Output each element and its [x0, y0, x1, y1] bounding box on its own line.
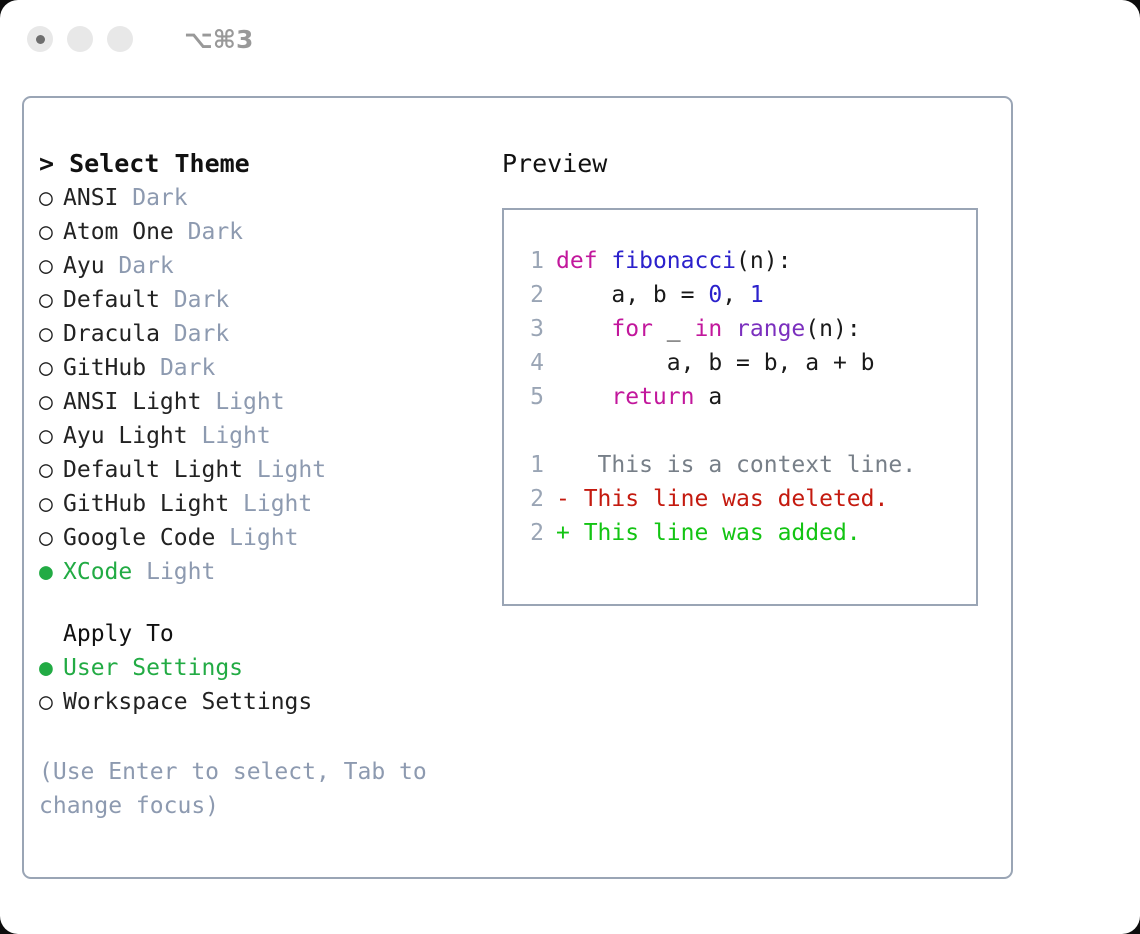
code-line: 3 for _ in range(n): [520, 312, 976, 346]
keyboard-shortcut-label: ⌥⌘3 [184, 25, 253, 54]
code-token: (n): [805, 316, 860, 342]
theme-kind-badge: Light [201, 389, 284, 415]
keyboard-hint-text: (Use Enter to select, Tab to change focu… [39, 755, 439, 823]
code-line-number: 2 [520, 278, 544, 312]
window-dot-third[interactable] [107, 26, 133, 52]
code-line-number: 4 [520, 346, 544, 380]
preview-column: Preview 1def fibonacci(n):2 a, b = 0, 13… [502, 147, 992, 606]
radio-unselected-icon[interactable]: ○ [39, 249, 63, 283]
theme-list-item[interactable]: ○GitHub Light Light [39, 487, 489, 521]
radio-unselected-icon[interactable]: ○ [39, 317, 63, 351]
theme-kind-badge: Light [188, 423, 271, 449]
apply-to-option[interactable]: ●User Settings [39, 651, 489, 685]
radio-unselected-icon[interactable]: ○ [39, 487, 63, 521]
code-token: def [556, 248, 598, 274]
preview-header: Preview [502, 147, 992, 181]
code-sample: 1def fibonacci(n):2 a, b = 0, 13 for _ i… [520, 244, 976, 414]
theme-list-item[interactable]: ○ANSI Light Light [39, 385, 489, 419]
select-theme-header: > Select Theme [39, 147, 489, 181]
apply-to-label: Apply To [39, 617, 489, 651]
code-line: 2 a, b = 0, 1 [520, 278, 976, 312]
theme-name-label: Atom One [63, 219, 174, 245]
theme-name-label: XCode [63, 559, 132, 585]
code-line-number: 3 [520, 312, 544, 346]
diff-sign: + [556, 520, 570, 546]
radio-unselected-icon[interactable]: ○ [39, 685, 63, 719]
code-token: (n): [736, 248, 791, 274]
diff-sign [556, 452, 570, 478]
theme-name-label: Google Code [63, 525, 215, 551]
code-token: _ [653, 316, 695, 342]
diff-sign: - [556, 486, 570, 512]
apply-to-option-label: User Settings [63, 655, 243, 681]
theme-name-label: ANSI Light [63, 389, 201, 415]
theme-list-item[interactable]: ○Atom One Dark [39, 215, 489, 249]
theme-name-label: Default [63, 287, 160, 313]
apply-to-option-label: Workspace Settings [63, 689, 312, 715]
diff-line-number: 1 [520, 448, 544, 482]
radio-unselected-icon[interactable]: ○ [39, 453, 63, 487]
code-token: a, b = [556, 282, 708, 308]
code-token: fibonacci [611, 248, 736, 274]
theme-kind-badge: Dark [174, 219, 243, 245]
code-line: 1def fibonacci(n): [520, 244, 976, 278]
theme-name-label: GitHub [63, 355, 146, 381]
window-dot-second[interactable] [67, 26, 93, 52]
apply-to-options[interactable]: ●User Settings○Workspace Settings [39, 651, 489, 719]
theme-list-item[interactable]: ●XCode Light [39, 555, 489, 589]
radio-unselected-icon[interactable]: ○ [39, 215, 63, 249]
theme-name-label: Dracula [63, 321, 160, 347]
main-panel: > Select Theme ○ANSI Dark○Atom One Dark○… [22, 96, 1013, 879]
code-token [598, 248, 612, 274]
apply-to-section: Apply To ●User Settings○Workspace Settin… [39, 617, 489, 719]
diff-line-number: 2 [520, 516, 544, 550]
diff-line: 2+ This line was added. [520, 516, 976, 550]
theme-kind-badge: Light [132, 559, 215, 585]
radio-unselected-icon[interactable]: ○ [39, 181, 63, 215]
diff-line-text: This is a context line. [570, 452, 916, 478]
code-token [722, 316, 736, 342]
app-window: ⌥⌘3 > Select Theme ○ANSI Dark○Atom One D… [0, 0, 1140, 934]
theme-name-label: Default Light [63, 457, 243, 483]
preview-spacer [520, 414, 976, 448]
code-line-number: 1 [520, 244, 544, 278]
theme-name-label: GitHub Light [63, 491, 229, 517]
theme-list-item[interactable]: ○Default Light Light [39, 453, 489, 487]
radio-selected-icon[interactable]: ● [39, 651, 63, 685]
title-bar: ⌥⌘3 [0, 0, 1140, 78]
code-token: return [611, 384, 694, 410]
theme-kind-badge: Light [229, 491, 312, 517]
theme-kind-badge: Dark [105, 253, 174, 279]
diff-line-text: This line was added. [570, 520, 861, 546]
theme-list-item[interactable]: ○Dracula Dark [39, 317, 489, 351]
code-token [556, 384, 611, 410]
theme-list-item[interactable]: ○ANSI Dark [39, 181, 489, 215]
code-token: , [722, 282, 750, 308]
code-token [556, 316, 611, 342]
diff-line: 1 This is a context line. [520, 448, 976, 482]
theme-list-item[interactable]: ○Google Code Light [39, 521, 489, 555]
code-token: 0 [708, 282, 722, 308]
radio-unselected-icon[interactable]: ○ [39, 351, 63, 385]
radio-unselected-icon[interactable]: ○ [39, 283, 63, 317]
theme-kind-badge: Dark [118, 185, 187, 211]
code-token: 1 [750, 282, 764, 308]
theme-list-item[interactable]: ○Ayu Light Light [39, 419, 489, 453]
theme-list-item[interactable]: ○Default Dark [39, 283, 489, 317]
theme-list-item[interactable]: ○Ayu Dark [39, 249, 489, 283]
radio-unselected-icon[interactable]: ○ [39, 521, 63, 555]
theme-name-label: Ayu [63, 253, 105, 279]
diff-line-number: 2 [520, 482, 544, 516]
window-dot-active[interactable] [27, 26, 53, 52]
apply-to-option[interactable]: ○Workspace Settings [39, 685, 489, 719]
code-line: 5 return a [520, 380, 976, 414]
theme-list-item[interactable]: ○GitHub Dark [39, 351, 489, 385]
preview-box: 1def fibonacci(n):2 a, b = 0, 13 for _ i… [502, 208, 978, 606]
diff-line-text: This line was deleted. [570, 486, 889, 512]
radio-unselected-icon[interactable]: ○ [39, 419, 63, 453]
theme-name-label: Ayu Light [63, 423, 188, 449]
diff-sample: 1 This is a context line.2- This line wa… [520, 448, 976, 550]
diff-line: 2- This line was deleted. [520, 482, 976, 516]
window-dot-active-inner [36, 35, 45, 44]
code-token: for [611, 316, 653, 342]
theme-kind-badge: Dark [160, 321, 229, 347]
theme-kind-badge: Dark [160, 287, 229, 313]
code-line: 4 a, b = b, a + b [520, 346, 976, 380]
code-token: in [694, 316, 722, 342]
radio-unselected-icon[interactable]: ○ [39, 385, 63, 419]
code-token: a [694, 384, 722, 410]
theme-kind-badge: Dark [146, 355, 215, 381]
theme-name-label: ANSI [63, 185, 118, 211]
code-token: a, b = b, a + b [556, 350, 875, 376]
theme-kind-badge: Light [243, 457, 326, 483]
code-token: range [736, 316, 805, 342]
theme-kind-badge: Light [215, 525, 298, 551]
theme-selector-column: > Select Theme ○ANSI Dark○Atom One Dark○… [39, 147, 489, 823]
radio-selected-icon[interactable]: ● [39, 555, 63, 589]
code-line-number: 5 [520, 380, 544, 414]
theme-list[interactable]: ○ANSI Dark○Atom One Dark○Ayu Dark○Defaul… [39, 181, 489, 589]
